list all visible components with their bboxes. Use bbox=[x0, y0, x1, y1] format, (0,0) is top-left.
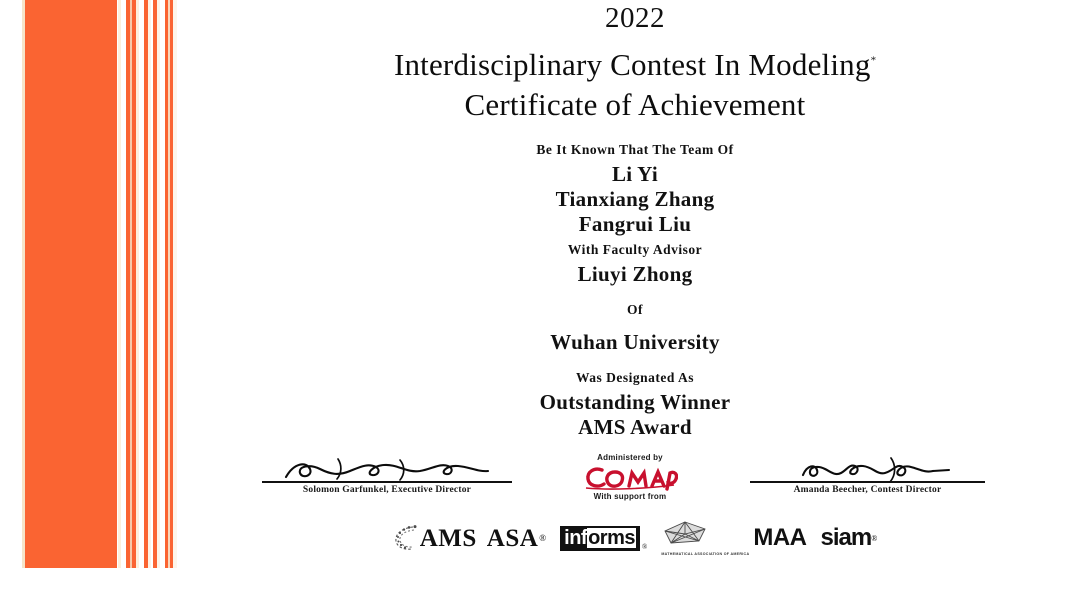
team-member-3: Fangrui Liu bbox=[190, 212, 1080, 237]
sponsor-ams: AMS ASA® bbox=[393, 524, 546, 552]
of-label: Of bbox=[190, 301, 1080, 318]
stripe bbox=[173, 0, 177, 568]
stripe bbox=[157, 0, 160, 568]
certificate-year: 2022 bbox=[190, 2, 1080, 35]
award-name: AMS Award bbox=[190, 415, 1080, 440]
maa-emblem-icon bbox=[661, 520, 709, 546]
signature-left: Solomon Garfunkel, Executive Director bbox=[262, 455, 512, 495]
advisor-name: Liuyi Zhong bbox=[190, 262, 1080, 287]
certificate-body: Be It Known That The Team Of Li Yi Tianx… bbox=[190, 141, 1080, 440]
signature-rule bbox=[750, 481, 985, 483]
team-member-1: Li Yi bbox=[190, 162, 1080, 187]
ams-label: AMS bbox=[420, 526, 477, 551]
asa-label: ASA bbox=[487, 526, 539, 551]
designation-label: Was Designated As bbox=[190, 369, 1080, 386]
sponsor-maa: MATHEMATICAL ASSOCIATION OF AMERICA MAA bbox=[661, 520, 806, 556]
administered-by-block: Administered by With support from bbox=[530, 453, 730, 501]
informs-trademark-icon: ® bbox=[642, 543, 647, 551]
sponsor-logo-row: AMS ASA® informs ® bbox=[190, 519, 1080, 557]
informs-label-part-b: orms bbox=[587, 528, 636, 548]
support-from-label: With support from bbox=[530, 492, 730, 501]
informs-logo-icon: informs bbox=[560, 526, 640, 551]
stripe bbox=[136, 0, 139, 568]
informs-label-part-a: inf bbox=[564, 528, 587, 548]
siam-label: siam bbox=[821, 526, 872, 550]
sponsor-siam: siam® bbox=[821, 526, 878, 550]
stripe bbox=[148, 0, 151, 568]
ams-swirl-icon bbox=[393, 524, 419, 552]
signature-rule bbox=[262, 481, 512, 483]
comap-logo-icon bbox=[582, 463, 678, 491]
contest-title-text: Interdisciplinary Contest In Modeling bbox=[394, 47, 871, 82]
siam-trademark-icon: ® bbox=[871, 534, 877, 543]
award-level: Outstanding Winner bbox=[190, 390, 1080, 415]
maa-subtitle: MATHEMATICAL ASSOCIATION OF AMERICA bbox=[661, 552, 749, 556]
contest-title: Interdisciplinary Contest In Modeling* bbox=[190, 47, 1080, 83]
stripe bbox=[118, 0, 121, 568]
decorative-stripe-band bbox=[0, 0, 190, 568]
stripe-main-orange bbox=[25, 0, 117, 568]
asa-trademark-icon: ® bbox=[539, 533, 546, 543]
administered-by-label: Administered by bbox=[530, 453, 730, 462]
institution-name: Wuhan University bbox=[190, 330, 1080, 355]
team-member-2: Tianxiang Zhang bbox=[190, 187, 1080, 212]
sponsor-informs: informs ® bbox=[560, 526, 647, 551]
signature-band: Solomon Garfunkel, Executive Director Ad… bbox=[190, 455, 1080, 525]
signature-name-right: Amanda Beecher, Contest Director bbox=[750, 485, 985, 495]
registered-mark-icon: * bbox=[871, 55, 877, 67]
certificate-page: 2022 Interdisciplinary Contest In Modeli… bbox=[0, 0, 1080, 597]
preamble-text: Be It Known That The Team Of bbox=[190, 141, 1080, 158]
certificate-subtitle: Certificate of Achievement bbox=[190, 87, 1080, 123]
signature-name-left: Solomon Garfunkel, Executive Director bbox=[262, 485, 512, 495]
maa-label: MAA bbox=[753, 526, 806, 550]
signature-right: Amanda Beecher, Contest Director bbox=[750, 455, 985, 495]
advisor-label: With Faculty Advisor bbox=[190, 241, 1080, 258]
